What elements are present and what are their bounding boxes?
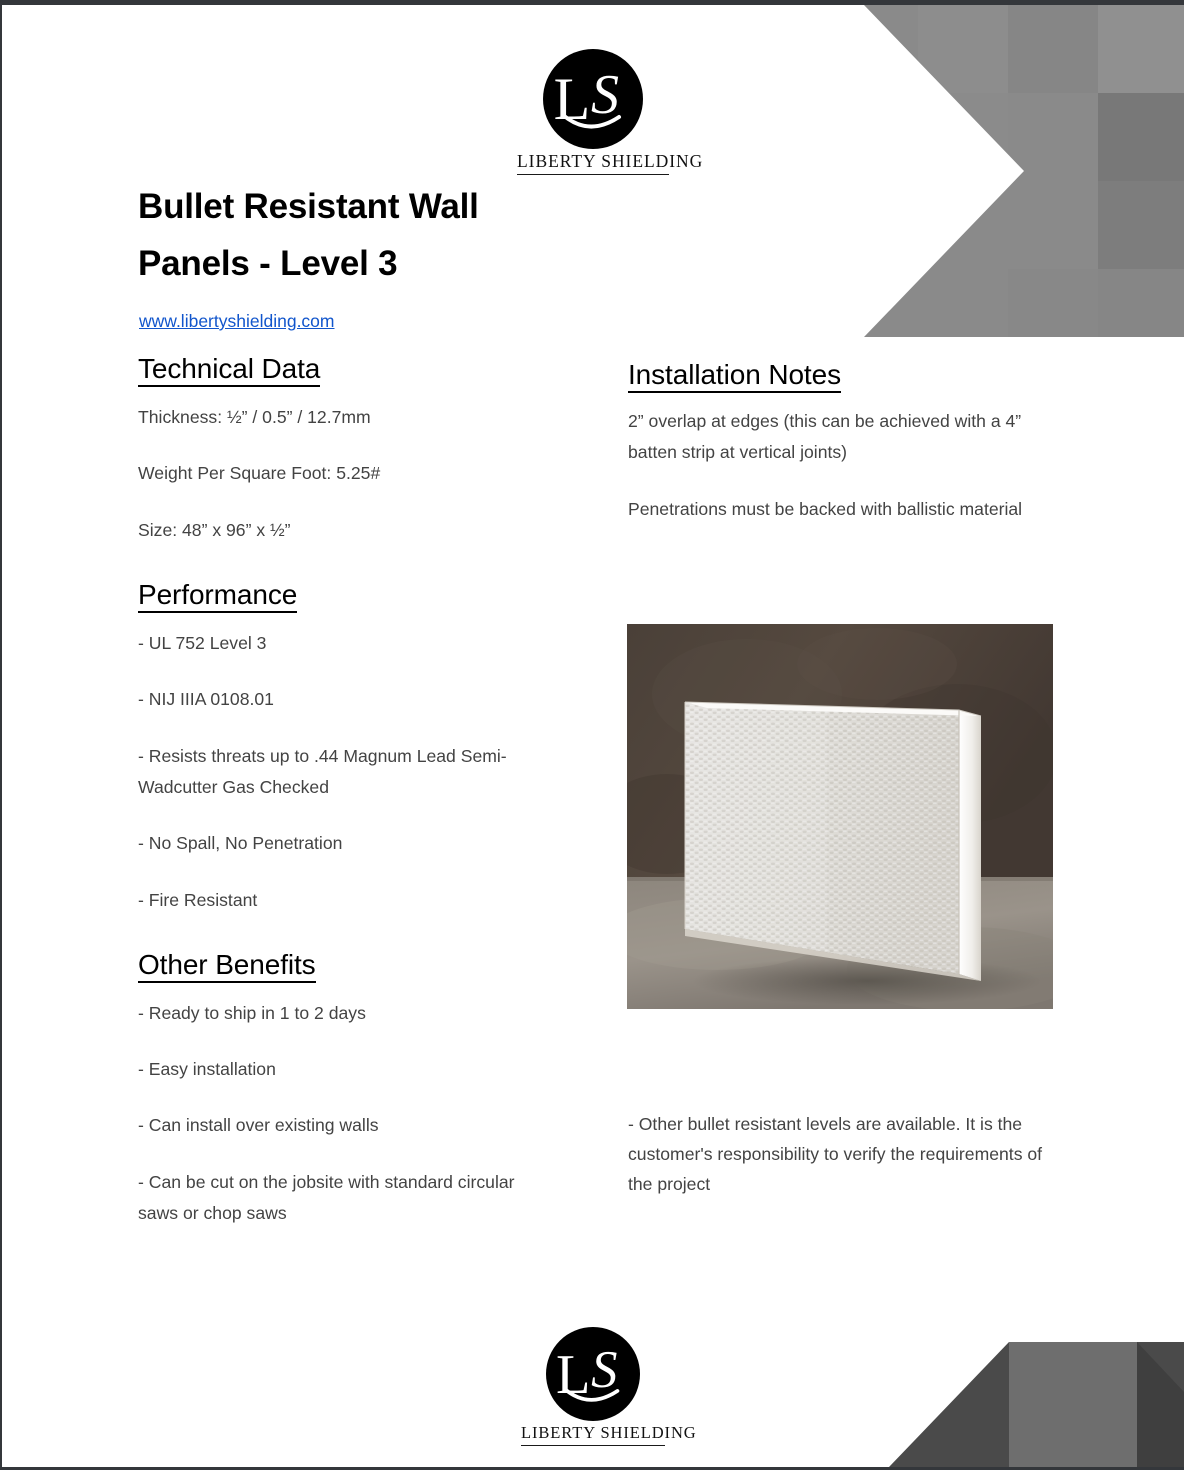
technical-data-item: Thickness: ½” / 0.5” / 12.7mm xyxy=(138,402,558,433)
right-column: Installation Notes 2” overlap at edges (… xyxy=(628,357,1060,525)
section-heading-technical-data: Technical Data xyxy=(138,351,558,386)
header-logo: L S LIBERTY SHIELDING xyxy=(2,49,1184,175)
footer-logo-wordmark: LIBERTY SHIELDING xyxy=(521,1423,665,1446)
performance-item: - UL 752 Level 3 xyxy=(138,628,558,659)
performance-item: - NIJ IIIA 0108.01 xyxy=(138,684,558,715)
other-benefits-item: - Can install over existing walls xyxy=(138,1110,558,1141)
other-benefits-item: - Can be cut on the jobsite with standar… xyxy=(138,1167,558,1230)
technical-data-item: Weight Per Square Foot: 5.25# xyxy=(138,458,558,489)
liberty-shielding-circle-logo-icon: L S xyxy=(546,1327,640,1421)
section-heading-installation-notes-text: Installation Notes xyxy=(628,359,841,393)
performance-item: - Resists threats up to .44 Magnum Lead … xyxy=(138,741,558,804)
performance-item: - No Spall, No Penetration xyxy=(138,828,558,859)
other-benefits-item: - Easy installation xyxy=(138,1054,558,1085)
product-photo xyxy=(627,624,1053,1009)
section-heading-technical-data-text: Technical Data xyxy=(138,353,320,387)
section-heading-performance-text: Performance xyxy=(138,579,297,613)
header-logo-wordmark: LIBERTY SHIELDING xyxy=(517,151,669,175)
svg-text:S: S xyxy=(591,1341,617,1399)
liberty-shielding-circle-logo-icon: L S xyxy=(543,49,643,149)
disclaimer-text: - Other bullet resistant levels are avai… xyxy=(628,1109,1064,1200)
page-title-line-1: Bullet Resistant Wall xyxy=(138,179,608,236)
document-page: L S LIBERTY SHIELDING Bullet Resistant W… xyxy=(0,0,1184,1470)
performance-item: - Fire Resistant xyxy=(138,885,558,916)
section-heading-other-benefits-text: Other Benefits xyxy=(138,949,316,983)
installation-note-item: 2” overlap at edges (this can be achieve… xyxy=(628,406,1060,469)
page-title: Bullet Resistant Wall Panels - Level 3 xyxy=(138,179,608,292)
left-column: Technical Data Thickness: ½” / 0.5” / 12… xyxy=(138,351,558,1229)
svg-text:S: S xyxy=(591,64,619,126)
section-heading-installation-notes: Installation Notes xyxy=(628,357,1060,392)
installation-note-item: Penetrations must be backed with ballist… xyxy=(628,494,1060,525)
page-title-line-2: Panels - Level 3 xyxy=(138,236,608,293)
section-heading-other-benefits: Other Benefits xyxy=(138,947,558,982)
technical-data-item: Size: 48” x 96” x ½” xyxy=(138,515,558,546)
other-benefits-item: - Ready to ship in 1 to 2 days xyxy=(138,998,558,1029)
website-link[interactable]: www.libertyshielding.com xyxy=(139,310,335,333)
section-heading-performance: Performance xyxy=(138,577,558,612)
footer-logo: L S LIBERTY SHIELDING xyxy=(2,1327,1184,1446)
